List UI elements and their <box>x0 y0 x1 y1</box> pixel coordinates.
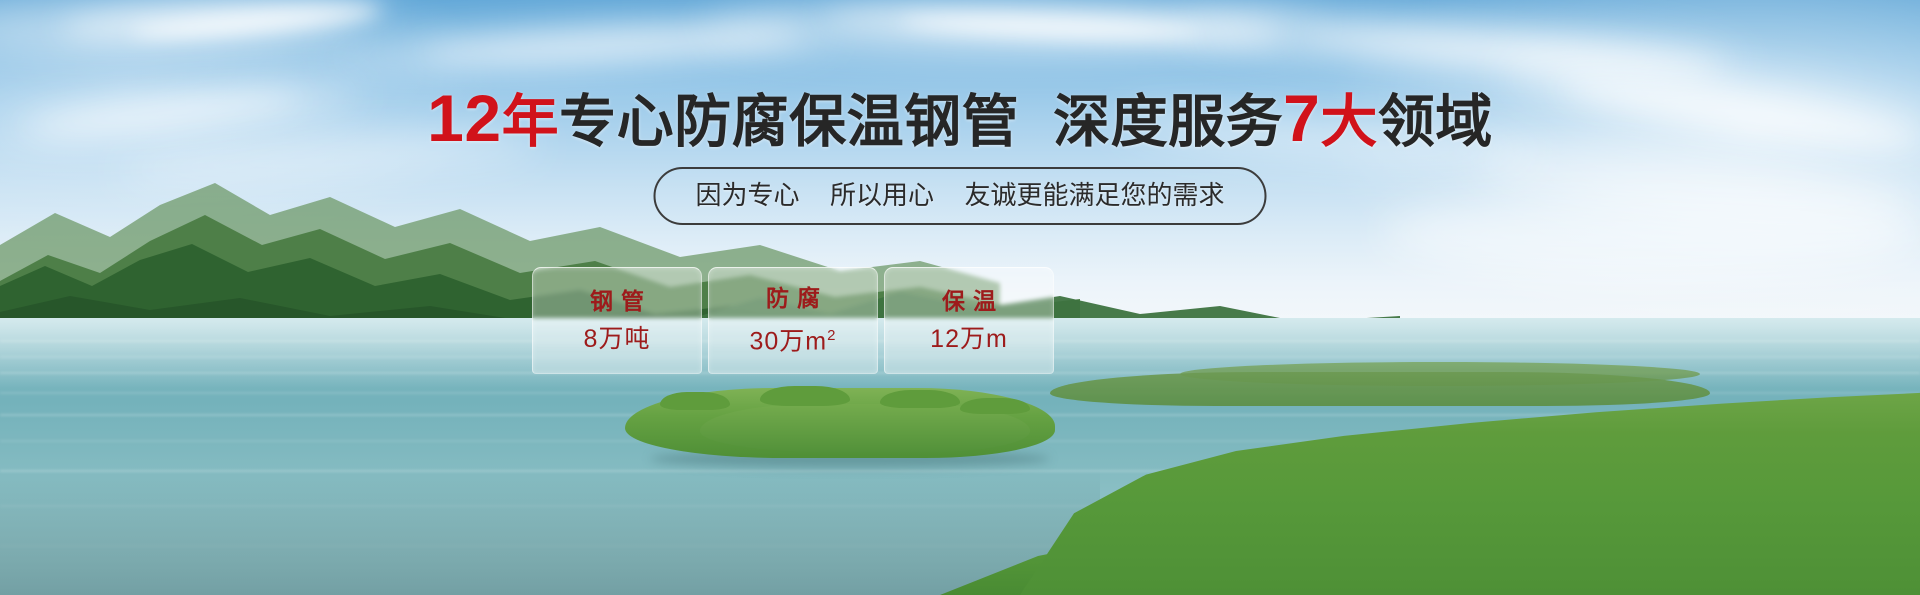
water-shadow <box>0 470 1100 595</box>
stat-card-anticorrosion: 防腐 30万m2 <box>708 267 878 374</box>
subtitle-part-3: 友诚更能满足您的需求 <box>964 180 1224 210</box>
subtitle-part-1: 因为专心 <box>696 180 800 210</box>
stat-card-value-text: 30万m <box>750 328 828 356</box>
headline-second-text: 深度服务 <box>1053 90 1283 154</box>
stat-card-label: 钢管 <box>582 288 652 314</box>
subtitle-part-2: 所以用心 <box>830 180 934 210</box>
stat-card-insulation: 保温 12万m <box>884 267 1054 374</box>
marsh-far <box>1050 372 1710 406</box>
hero-banner: 12年专心防腐保温钢管深度服务7大领域 因为专心 所以用心 友诚更能满足您的需求… <box>0 0 1920 595</box>
subtitle-pill: 因为专心 所以用心 友诚更能满足您的需求 <box>654 167 1267 225</box>
stat-card-value: 30万m2 <box>750 322 837 355</box>
stat-card-steel-pipe: 钢管 8万吨 <box>532 267 702 374</box>
headline-fields-number: 7 <box>1283 81 1320 155</box>
stat-card-label: 保温 <box>934 288 1004 314</box>
stat-card-group: 钢管 8万吨 防腐 30万m2 保温 12万m <box>532 267 1054 374</box>
headline-middle-text: 专心防腐保温钢管 <box>559 90 1019 154</box>
headline-tail-text: 领域 <box>1378 90 1493 154</box>
headline-years-unit: 年 <box>502 90 560 154</box>
stat-card-value: 12万m <box>930 325 1008 353</box>
stat-card-label: 防腐 <box>758 285 828 311</box>
stat-card-value-superscript: 2 <box>827 327 836 344</box>
page-title: 12年专心防腐保温钢管深度服务7大领域 <box>0 86 1920 154</box>
headline-years-number: 12 <box>427 81 501 155</box>
stat-card-value: 8万吨 <box>584 325 651 353</box>
headline-fields-unit: 大 <box>1320 90 1378 154</box>
